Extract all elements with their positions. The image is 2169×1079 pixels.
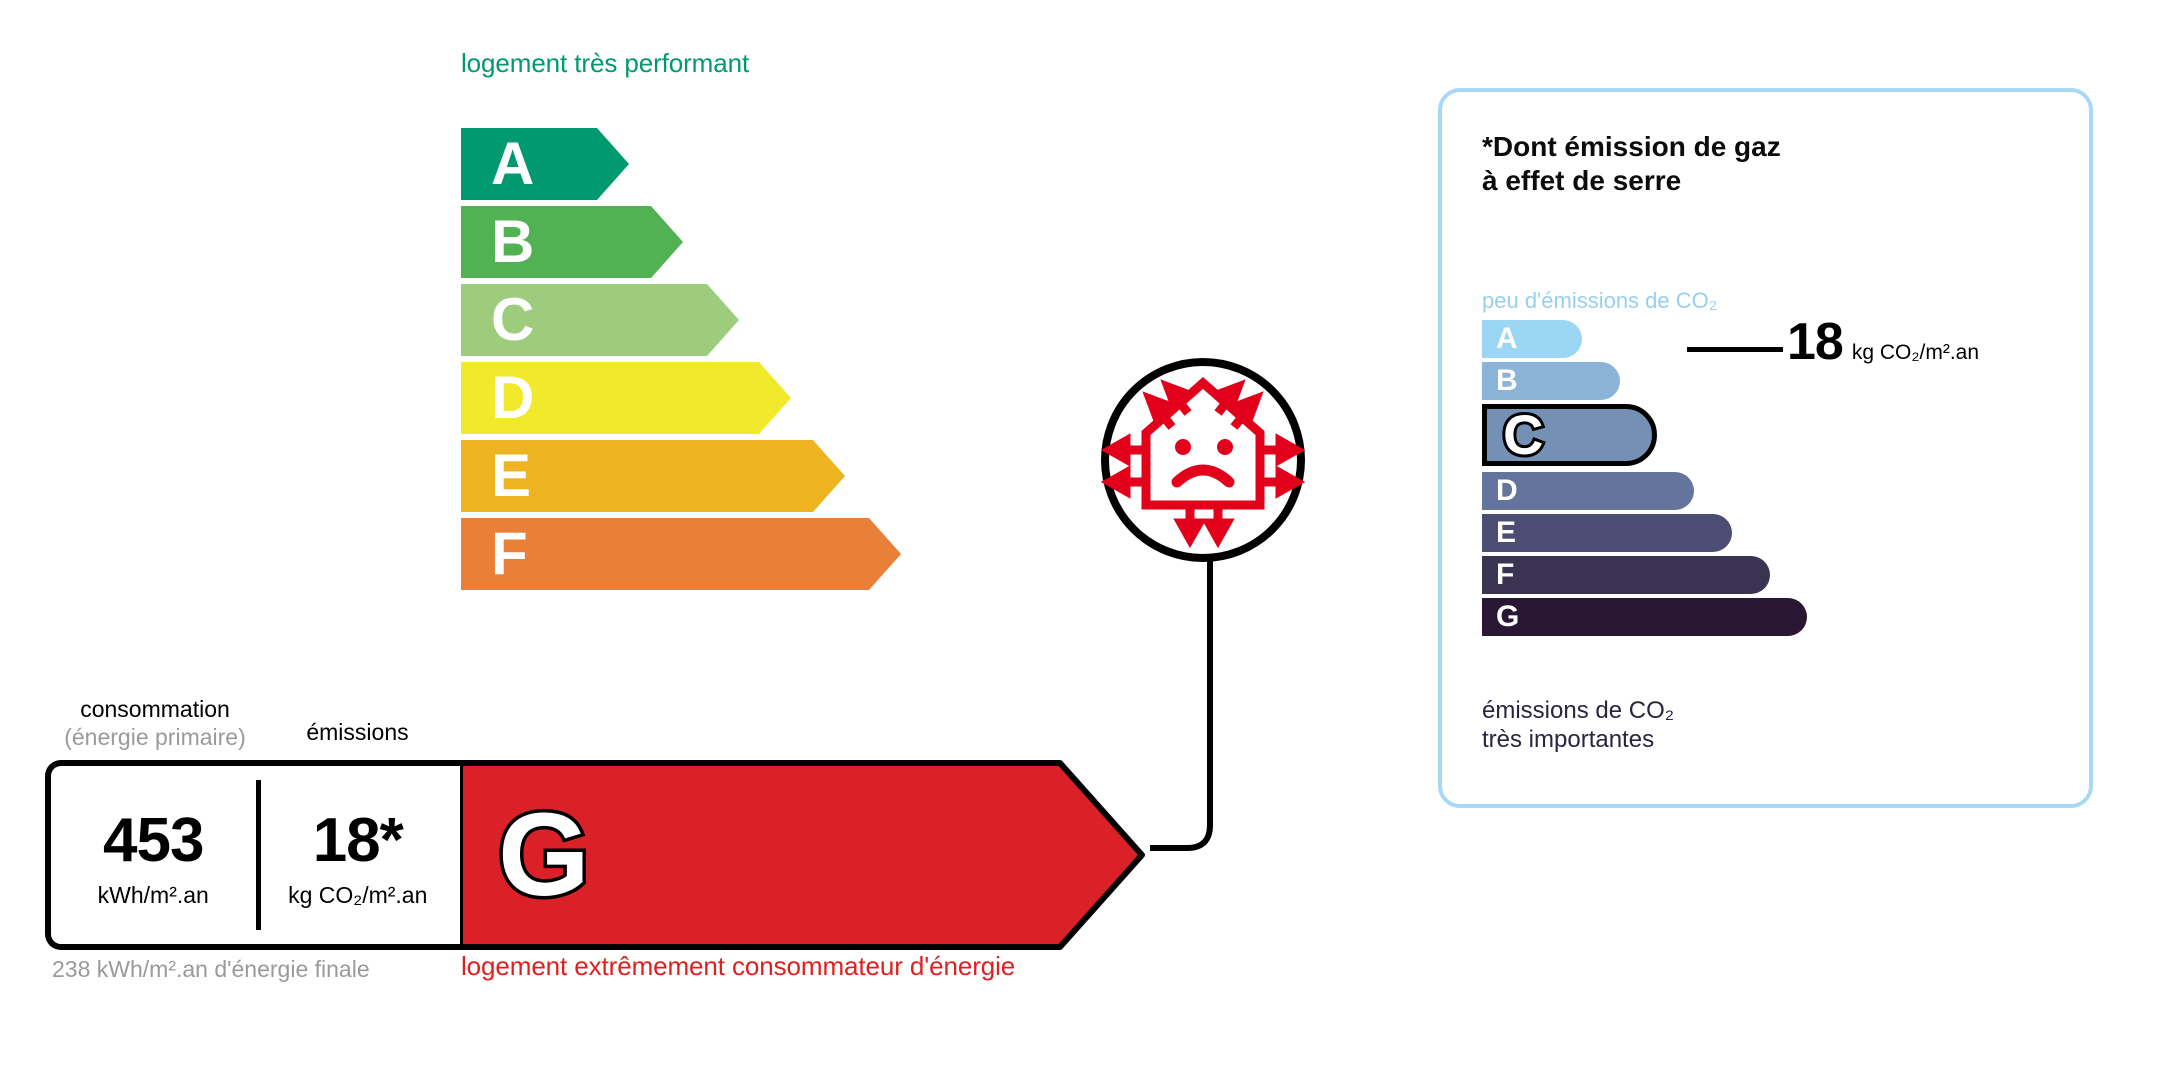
house-heat-loss-sad-icon xyxy=(1098,355,1308,565)
primary-energy-cell: 453 kWh/m².an xyxy=(51,766,256,944)
energy-bar-e: E xyxy=(461,440,845,512)
energy-bar-label-e: E xyxy=(491,446,531,506)
co2-bar-a: A xyxy=(1482,320,1582,358)
co2-bar-c: C xyxy=(1482,404,1657,466)
emissions-cell: 18* kg CO₂/m².an xyxy=(256,766,461,944)
energy-bar-label-d: D xyxy=(491,368,534,428)
co2-class-row-d[interactable]: D xyxy=(1482,472,1694,510)
energy-class-row-a[interactable]: A xyxy=(461,128,629,200)
house-heat-loss-badge xyxy=(1098,355,1308,565)
energy-values-box: 453 kWh/m².an 18* kg CO₂/m².an xyxy=(45,760,460,950)
co2-bar-label-e: E xyxy=(1496,518,1516,548)
co2-top-caption: peu d'émissions de CO₂ xyxy=(1482,288,1717,314)
co2-class-row-e[interactable]: E xyxy=(1482,514,1732,552)
co2-class-row-c-selected[interactable]: C xyxy=(1482,404,1657,466)
co2-bar-d: D xyxy=(1482,472,1694,510)
emissions-value: 18* xyxy=(313,810,403,872)
co2-bar-e: E xyxy=(1482,514,1732,552)
co2-bar-label-g: G xyxy=(1496,602,1519,632)
co2-emissions-panel: *Dont émission de gaz à effet de serre p… xyxy=(1438,88,2093,808)
co2-panel-title: *Dont émission de gaz à effet de serre xyxy=(1482,130,1781,198)
energy-class-row-c[interactable]: C xyxy=(461,284,739,356)
co2-class-row-a[interactable]: A xyxy=(1482,320,1582,358)
emissions-label: émissions xyxy=(265,718,450,746)
co2-bar-g: G xyxy=(1482,598,1807,636)
energy-bar-label-g: G xyxy=(498,796,590,914)
energy-bar-label-b: B xyxy=(491,212,534,272)
co2-bar-label-b: B xyxy=(1496,366,1518,396)
energy-bar-label-c: C xyxy=(491,290,534,350)
energy-class-row-g-selected[interactable]: 453 kWh/m².an 18* kg CO₂/m².an G xyxy=(45,760,1145,950)
co2-class-row-b[interactable]: B xyxy=(1482,362,1620,400)
connector-path xyxy=(1140,540,1270,860)
energy-class-row-b[interactable]: B xyxy=(461,206,683,278)
emissions-unit: kg CO₂/m².an xyxy=(288,884,427,907)
co2-bar-label-d: D xyxy=(1496,476,1518,506)
co2-bar-label-c: C xyxy=(1503,407,1543,463)
consumption-label-main: consommation xyxy=(45,695,265,723)
energy-bar-d: D xyxy=(461,362,791,434)
co2-class-row-g[interactable]: G xyxy=(1482,598,1807,636)
co2-bar-label-f: F xyxy=(1496,560,1514,590)
energy-bar-shape-a xyxy=(461,128,629,200)
primary-energy-unit: kWh/m².an xyxy=(98,884,209,907)
energy-bar-g: G xyxy=(460,760,1145,950)
energy-bar-label-f: F xyxy=(491,524,528,584)
energy-bar-f: F xyxy=(461,518,901,590)
energy-bar-a: A xyxy=(461,128,629,200)
energy-bar-c: C xyxy=(461,284,739,356)
consumption-label: consommation (énergie primaire) xyxy=(45,695,265,751)
co2-bar-b: B xyxy=(1482,362,1620,400)
primary-energy-value: 453 xyxy=(103,810,203,872)
badge-connector-line xyxy=(1140,540,1270,860)
co2-leader-line xyxy=(1687,347,1783,352)
co2-value-annotation: 18 kg CO₂/m².an xyxy=(1787,316,1979,368)
energy-top-caption: logement très performant xyxy=(461,48,749,79)
co2-class-row-f[interactable]: F xyxy=(1482,556,1770,594)
energy-bar-label-a: A xyxy=(491,134,534,194)
energy-class-row-f[interactable]: F xyxy=(461,518,901,590)
co2-value-unit: kg CO₂/m².an xyxy=(1852,341,1979,365)
energy-performance-diagram: logement très performant A B C xyxy=(0,0,1300,1079)
energy-class-row-d[interactable]: D xyxy=(461,362,791,434)
consumption-label-sub: (énergie primaire) xyxy=(45,723,265,751)
energy-bottom-caption: logement extrêmement consommateur d'éner… xyxy=(461,951,1015,982)
final-energy-note: 238 kWh/m².an d'énergie finale xyxy=(52,955,370,984)
co2-bar-f: F xyxy=(1482,556,1770,594)
co2-bar-label-a: A xyxy=(1496,324,1518,354)
co2-bottom-caption: émissions de CO₂ très importantes xyxy=(1482,696,1674,755)
energy-bar-b: B xyxy=(461,206,683,278)
energy-class-row-e[interactable]: E xyxy=(461,440,845,512)
co2-value-number: 18 xyxy=(1787,316,1843,368)
